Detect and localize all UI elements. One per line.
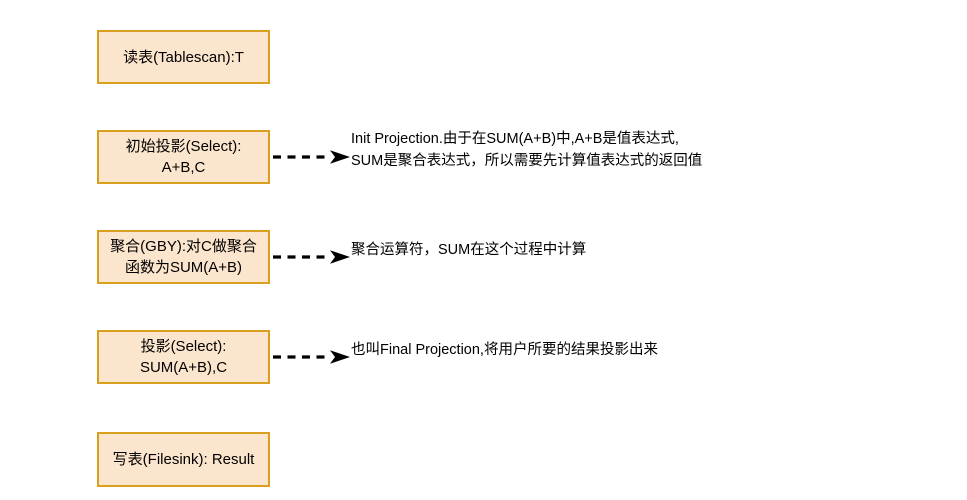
annotation-init-select: Init Projection.由于在SUM(A+B)中,A+B是值表达式, S… [351, 128, 702, 172]
arrowhead-icon [330, 350, 350, 364]
flow-node-group-by[interactable]: 聚合(GBY):对C做聚合 函数为SUM(A+B) [97, 230, 270, 284]
flow-node-tablescan[interactable]: 读表(Tablescan):T [97, 30, 270, 84]
flow-node-filesink-label: 写表(Filesink): Result [113, 449, 255, 470]
flow-node-select-label: 投影(Select): SUM(A+B),C [140, 336, 227, 378]
diagram-canvas: 读表(Tablescan):T 初始投影(Select): A+B,C 聚合(G… [0, 0, 967, 500]
flow-node-group-by-label: 聚合(GBY):对C做聚合 函数为SUM(A+B) [110, 236, 257, 278]
arrowhead-icon [330, 250, 350, 264]
annotation-group-by: 聚合运算符，SUM在这个过程中计算 [351, 239, 586, 261]
annotation-select: 也叫Final Projection,将用户所要的结果投影出来 [351, 339, 658, 361]
flow-node-tablescan-label: 读表(Tablescan):T [123, 47, 244, 68]
flow-node-init-select-label: 初始投影(Select): A+B,C [126, 136, 242, 178]
flow-node-init-select[interactable]: 初始投影(Select): A+B,C [97, 130, 270, 184]
dashed-arrow-icon-group-by [272, 248, 352, 266]
arrowhead-icon [330, 150, 350, 164]
flow-node-select[interactable]: 投影(Select): SUM(A+B),C [97, 330, 270, 384]
dashed-arrow-icon-select [272, 348, 352, 366]
flow-node-filesink[interactable]: 写表(Filesink): Result [97, 432, 270, 487]
dashed-arrow-icon-init-select [272, 148, 352, 166]
